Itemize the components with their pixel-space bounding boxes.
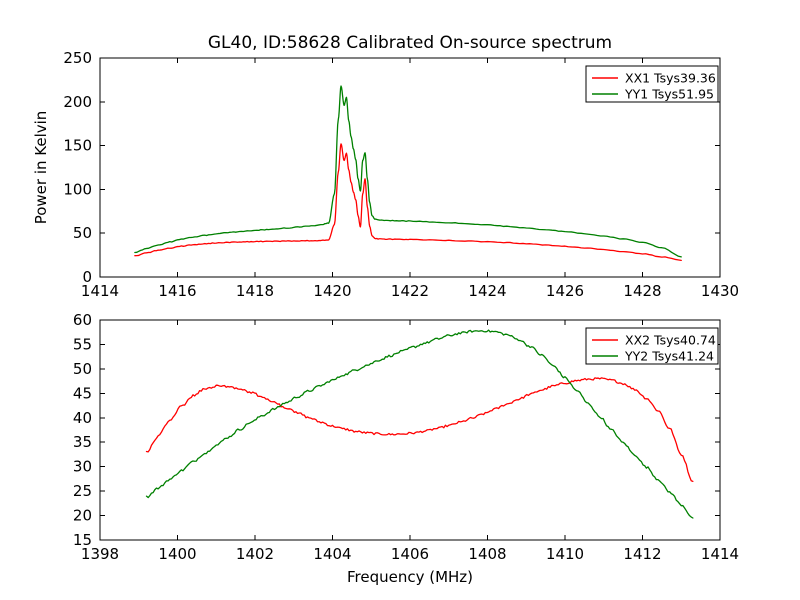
x-ticklabel-1422: 1422	[391, 282, 429, 300]
x-ticklabel-1414: 1414	[701, 545, 739, 563]
y-ticklabel-20: 20	[73, 507, 92, 525]
series-line-xx1	[135, 144, 681, 260]
x-ticklabel-1406: 1406	[391, 545, 429, 563]
plot-title: GL40, ID:58628 Calibrated On-source spec…	[208, 33, 612, 53]
series-line-yy1	[135, 86, 681, 257]
x-ticklabel-1424: 1424	[468, 282, 506, 300]
y-ticklabel-200: 200	[63, 93, 92, 111]
legend-label-yy2: YY2 Tsys41.24	[624, 349, 714, 364]
y-ticklabel-40: 40	[73, 409, 92, 427]
figure-canvas: 1414141614181420142214241426142814300501…	[0, 0, 800, 600]
y-ticklabel-30: 30	[73, 458, 92, 476]
y-ticklabel-50: 50	[73, 224, 92, 242]
legend-label-xx1: XX1 Tsys39.36	[625, 71, 716, 86]
x-ticklabel-1404: 1404	[313, 545, 351, 563]
y-ticklabel-250: 250	[63, 49, 92, 67]
y-ticklabel-35: 35	[73, 433, 92, 451]
legend-bottom: XX2 Tsys40.74YY2 Tsys41.24	[586, 328, 718, 364]
x-ticklabel-1418: 1418	[236, 282, 274, 300]
y-ticklabel-150: 150	[63, 137, 92, 155]
x-ticklabel-1416: 1416	[158, 282, 196, 300]
x-ticklabel-1412: 1412	[623, 545, 661, 563]
y-ticklabel-50: 50	[73, 360, 92, 378]
y-ticklabel-0: 0	[82, 268, 92, 286]
panel-top: 1414141614181420142214241426142814300501…	[32, 33, 739, 300]
x-ticklabel-1428: 1428	[623, 282, 661, 300]
panel-bottom: 1398140014021404140614081410141214141520…	[73, 311, 739, 586]
y-ticklabel-25: 25	[73, 482, 92, 500]
legend-label-yy1: YY1 Tsys51.95	[624, 87, 714, 102]
y-ticklabel-100: 100	[63, 180, 92, 198]
y-ticklabel-45: 45	[73, 384, 92, 402]
x-ticklabel-1430: 1430	[701, 282, 739, 300]
legend-top: XX1 Tsys39.36YY1 Tsys51.95	[586, 66, 718, 102]
x-ticklabel-1402: 1402	[236, 545, 274, 563]
legend-label-xx2: XX2 Tsys40.74	[625, 333, 716, 348]
x-ticklabel-1408: 1408	[468, 545, 506, 563]
x-ticklabel-1410: 1410	[546, 545, 584, 563]
spectrum-plot: 1414141614181420142214241426142814300501…	[0, 0, 800, 600]
y-ticklabel-15: 15	[73, 531, 92, 549]
x-ticklabel-1400: 1400	[158, 545, 196, 563]
x-ticklabel-1420: 1420	[313, 282, 351, 300]
y-axis-label: Power in Kelvin	[32, 111, 50, 225]
x-axis-label: Frequency (MHz)	[347, 568, 473, 586]
y-ticklabel-55: 55	[73, 335, 92, 353]
y-ticklabel-60: 60	[73, 311, 92, 329]
x-ticklabel-1426: 1426	[546, 282, 584, 300]
